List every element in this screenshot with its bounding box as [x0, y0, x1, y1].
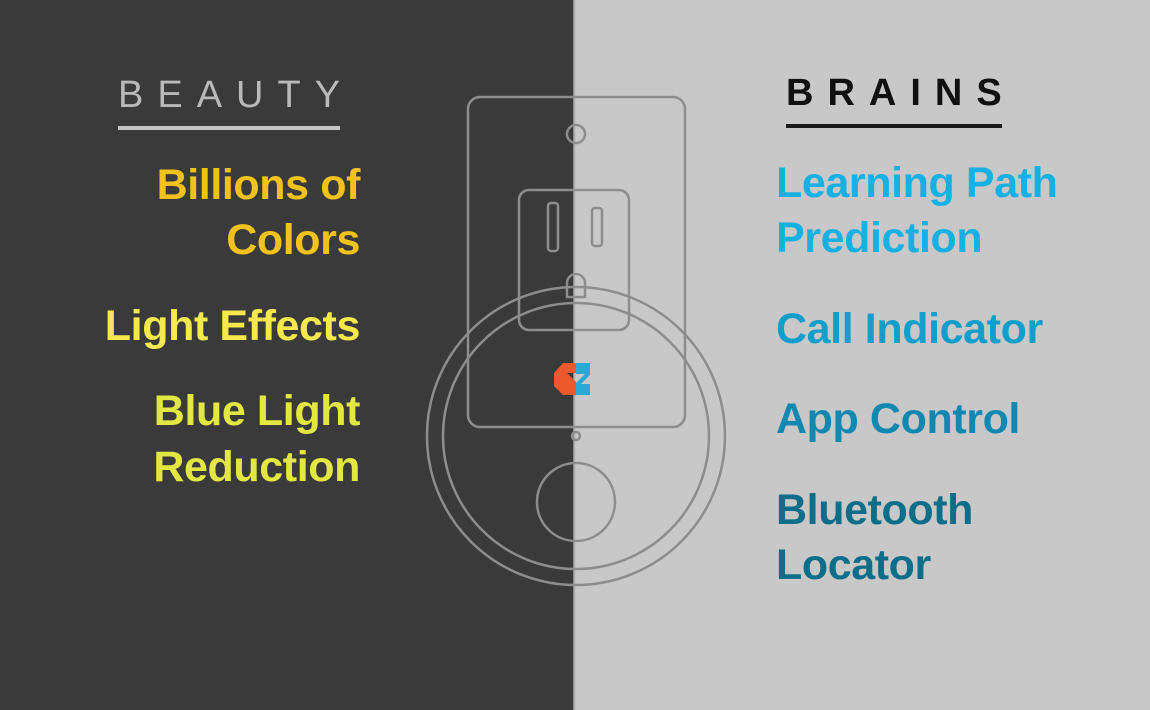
brains-heading-label: BRAINS	[786, 72, 1016, 114]
brains-heading-rule	[786, 124, 1002, 128]
list-item: Light Effects	[30, 299, 360, 354]
list-item: App Control	[776, 392, 1136, 447]
beauty-heading-rule	[118, 126, 340, 130]
brains-feature-list: Learning Path Prediction Call Indicator …	[776, 156, 1136, 629]
beauty-heading: BEAUTY	[118, 76, 354, 130]
list-item: Blue Light Reduction	[30, 384, 360, 495]
beauty-heading-label: BEAUTY	[118, 74, 354, 116]
list-item: Call Indicator	[776, 302, 1136, 357]
list-item: Learning Path Prediction	[776, 156, 1136, 267]
promo-graphic: BEAUTY Billions of Colors Light Effects …	[0, 0, 1150, 710]
beauty-feature-list: Billions of Colors Light Effects Blue Li…	[30, 158, 360, 525]
brains-heading: BRAINS	[786, 74, 1016, 128]
panel-divider	[573, 0, 576, 710]
list-item: Billions of Colors	[30, 158, 360, 269]
list-item: Bluetooth Locator	[776, 483, 1136, 594]
